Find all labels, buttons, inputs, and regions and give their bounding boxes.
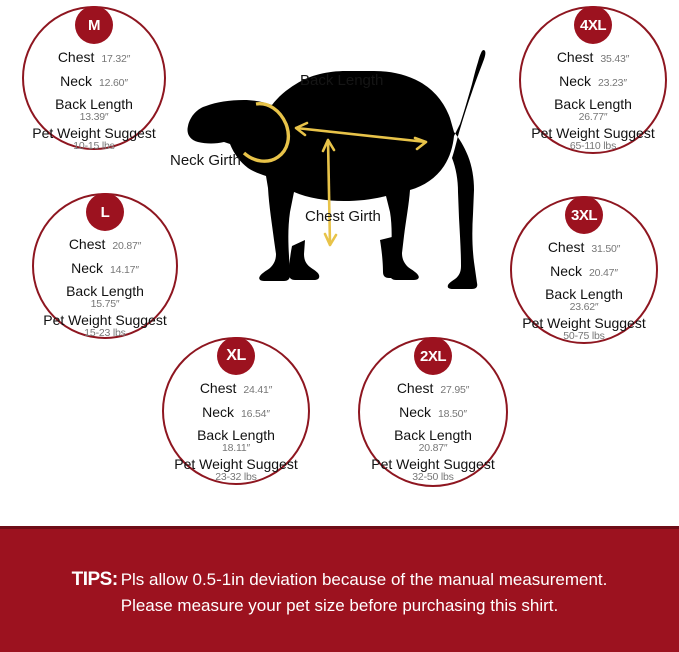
chest-label: Chest: [397, 381, 434, 395]
chest-label: Chest: [200, 381, 237, 395]
neck-girth-diagram-label: Neck Girth: [170, 152, 241, 169]
size-details-xl: Chest 24.41″ Neck 16.54″ Back Length 18.…: [164, 381, 308, 485]
pet-weight-label: Pet Weight Suggest: [34, 313, 176, 327]
size-badge-xl: XL: [217, 337, 255, 375]
back-length-label: Back Length: [360, 428, 506, 442]
size-details-4xl: Chest 35.43″ Neck 23.23″ Back Length 26.…: [521, 50, 665, 154]
back-length-value: 23.62″: [512, 302, 656, 313]
pet-weight-value: 50-75 lbs: [512, 331, 656, 342]
size-details-3xl: Chest 31.50″ Neck 20.47″ Back Length 23.…: [512, 240, 656, 344]
size-circle-xl[interactable]: XL Chest 24.41″ Neck 16.54″ Back Length …: [162, 337, 310, 485]
neck-row: Neck 20.47″: [512, 264, 656, 279]
tips-label: TIPS:: [72, 569, 118, 590]
back-length-label: Back Length: [164, 428, 308, 442]
size-badge-m: M: [75, 6, 113, 44]
back-length-value: 20.87″: [360, 443, 506, 454]
chest-label: Chest: [69, 237, 106, 251]
neck-value: 23.23″: [598, 78, 627, 89]
pet-weight-value: 15-23 lbs: [34, 328, 176, 339]
back-length-label: Back Length: [34, 284, 176, 298]
size-circle-4xl[interactable]: 4XL Chest 35.43″ Neck 23.23″ Back Length…: [519, 6, 667, 154]
chest-label: Chest: [557, 50, 594, 64]
size-details-l: Chest 20.87″ Neck 14.17″ Back Length 15.…: [34, 237, 176, 341]
chest-value: 20.87″: [112, 241, 141, 252]
back-length-value: 15.75″: [34, 299, 176, 310]
back-length-value: 26.77″: [521, 112, 665, 123]
size-details-m: Chest 17.32″ Neck 12.60″ Back Length 13.…: [24, 50, 164, 154]
back-length-diagram-label: Back Length: [300, 72, 383, 89]
size-circle-l[interactable]: L Chest 20.87″ Neck 14.17″ Back Length 1…: [32, 193, 178, 339]
chest-row: Chest 24.41″: [164, 381, 308, 396]
pet-weight-label: Pet Weight Suggest: [521, 126, 665, 140]
neck-label: Neck: [399, 405, 431, 419]
neck-value: 16.54″: [241, 409, 270, 420]
chest-label: Chest: [548, 240, 585, 254]
size-badge-4xl: 4XL: [574, 6, 612, 44]
pet-weight-value: 32-50 lbs: [360, 472, 506, 483]
tips-line-1: TIPS:Pls allow 0.5-1in deviation because…: [72, 566, 608, 594]
chest-value: 17.32″: [101, 54, 130, 65]
neck-value: 20.47″: [589, 268, 618, 279]
neck-label: Neck: [60, 74, 92, 88]
neck-row: Neck 18.50″: [360, 405, 506, 420]
back-length-label: Back Length: [512, 287, 656, 301]
pet-weight-value: 65-110 lbs: [521, 141, 665, 152]
chest-value: 35.43″: [600, 54, 629, 65]
neck-label: Neck: [559, 74, 591, 88]
pet-size-chart: Back Length Neck Girth Chest Girth M Che…: [0, 0, 679, 652]
size-circle-m[interactable]: M Chest 17.32″ Neck 12.60″ Back Length 1…: [22, 6, 166, 150]
back-length-label: Back Length: [24, 97, 164, 111]
pet-weight-label: Pet Weight Suggest: [512, 316, 656, 330]
neck-row: Neck 14.17″: [34, 261, 176, 276]
chest-girth-diagram-label: Chest Girth: [305, 208, 381, 225]
size-badge-2xl: 2XL: [414, 337, 452, 375]
neck-row: Neck 16.54″: [164, 405, 308, 420]
back-length-value: 13.39″: [24, 112, 164, 123]
neck-label: Neck: [550, 264, 582, 278]
pet-weight-value: 23-32 lbs: [164, 472, 308, 483]
pet-weight-value: 10-15 lbs: [24, 141, 164, 152]
chest-value: 24.41″: [243, 385, 272, 396]
chest-row: Chest 17.32″: [24, 50, 164, 65]
tips-text-1: Pls allow 0.5-1in deviation because of t…: [121, 570, 608, 589]
chest-value: 27.95″: [440, 385, 469, 396]
size-badge-3xl: 3XL: [565, 196, 603, 234]
neck-value: 18.50″: [438, 409, 467, 420]
chest-row: Chest 20.87″: [34, 237, 176, 252]
pet-weight-label: Pet Weight Suggest: [360, 457, 506, 471]
neck-row: Neck 12.60″: [24, 74, 164, 89]
size-circle-2xl[interactable]: 2XL Chest 27.95″ Neck 18.50″ Back Length…: [358, 337, 508, 487]
back-length-label: Back Length: [521, 97, 665, 111]
size-details-2xl: Chest 27.95″ Neck 18.50″ Back Length 20.…: [360, 381, 506, 485]
chest-label: Chest: [58, 50, 95, 64]
size-badge-l: L: [86, 193, 124, 231]
pet-weight-label: Pet Weight Suggest: [164, 457, 308, 471]
tips-banner: TIPS:Pls allow 0.5-1in deviation because…: [0, 526, 679, 652]
chest-value: 31.50″: [591, 244, 620, 255]
chest-row: Chest 27.95″: [360, 381, 506, 396]
neck-value: 14.17″: [110, 265, 139, 276]
chest-row: Chest 31.50″: [512, 240, 656, 255]
neck-label: Neck: [202, 405, 234, 419]
tips-line-2: Please measure your pet size before purc…: [121, 594, 559, 619]
pet-weight-label: Pet Weight Suggest: [24, 126, 164, 140]
neck-row: Neck 23.23″: [521, 74, 665, 89]
size-circle-3xl[interactable]: 3XL Chest 31.50″ Neck 20.47″ Back Length…: [510, 196, 658, 344]
back-length-value: 18.11″: [164, 443, 308, 454]
chest-row: Chest 35.43″: [521, 50, 665, 65]
neck-value: 12.60″: [99, 78, 128, 89]
neck-label: Neck: [71, 261, 103, 275]
